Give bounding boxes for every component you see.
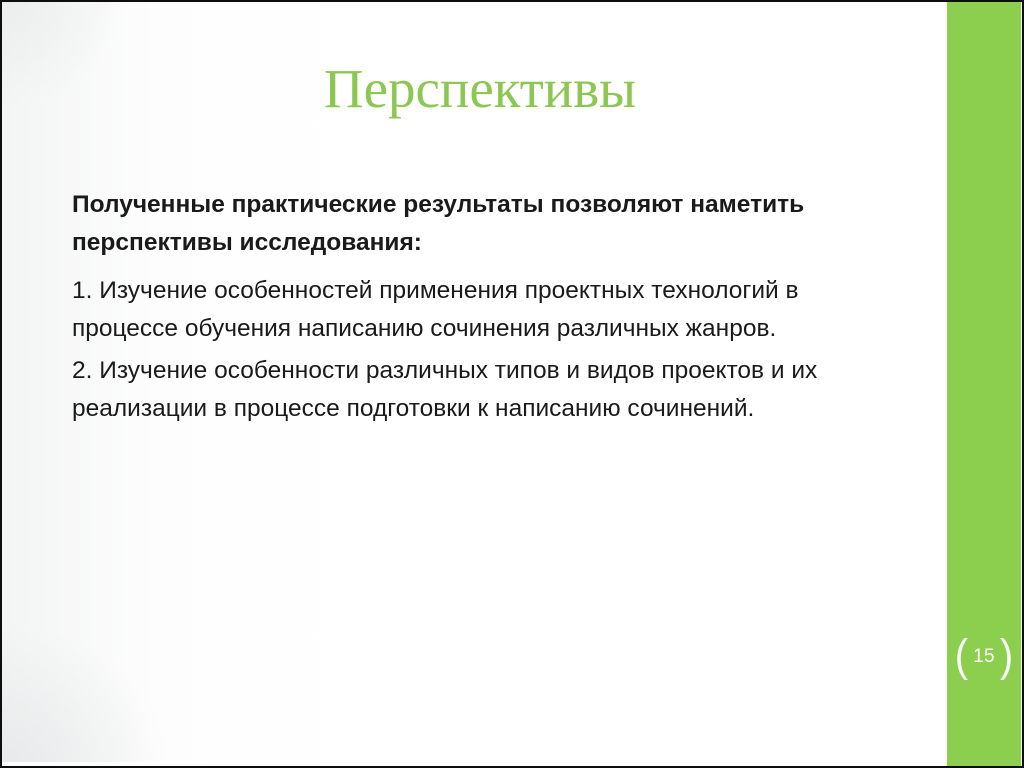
bracket-right-icon: ) — [1000, 634, 1013, 679]
body-intro-paragraph: Полученные практические результаты позво… — [72, 186, 902, 262]
accent-bar-right: ( 15 ) — [947, 2, 1021, 766]
body-list-item-2: 2. Изучение особенности различных типов … — [72, 352, 902, 428]
slide-title: Перспективы — [40, 58, 920, 120]
slide-number-text: 15 — [973, 647, 995, 666]
body-list-item-1: 1. Изучение особенностей применения прое… — [72, 272, 902, 348]
slide-number-badge: ( 15 ) — [947, 634, 1021, 678]
presentation-slide: ( 15 ) Перспективы Полученные практическ… — [0, 0, 1024, 768]
slide-body: Полученные практические результаты позво… — [72, 186, 902, 432]
slide-content: Перспективы Полученные практические резу… — [0, 0, 947, 768]
bracket-left-icon: ( — [955, 634, 968, 679]
